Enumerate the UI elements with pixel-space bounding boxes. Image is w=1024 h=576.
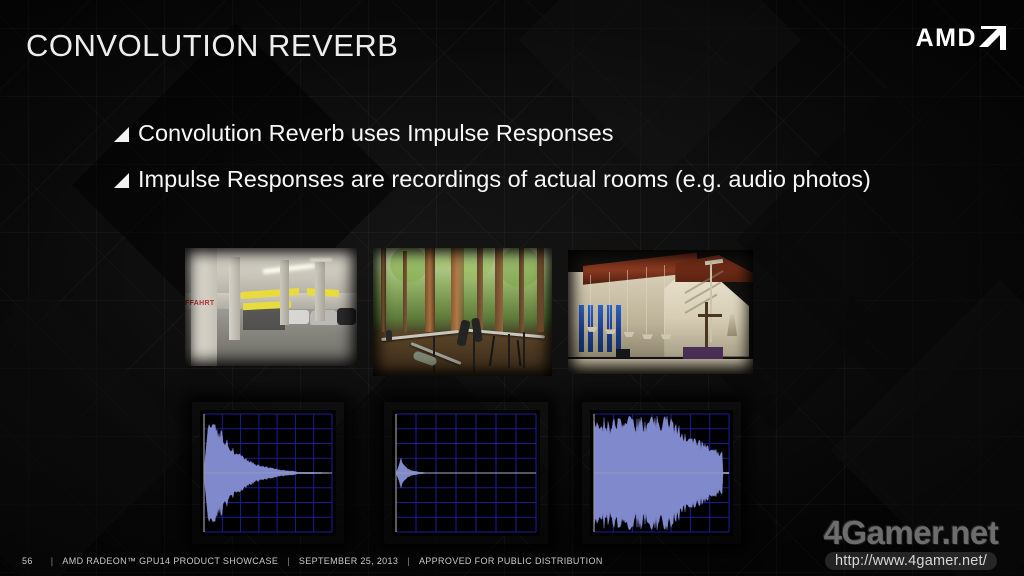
watermark: 4Gamer.net http://www.4gamer.net/: [806, 516, 1016, 570]
forest-photo: [373, 248, 552, 376]
watermark-brand: 4Gamer.net: [806, 516, 1016, 550]
list-item: Convolution Reverb uses Impulse Response…: [114, 120, 994, 147]
footer-deck-name: AMD RADEON™ GPU14 PRODUCT SHOWCASE: [62, 556, 278, 566]
impulse-response-forest-waveform: [392, 410, 540, 536]
triangle-bullet-icon: [114, 127, 129, 142]
watermark-url[interactable]: http://www.4gamer.net/: [825, 552, 997, 570]
amd-logo: AMD: [916, 26, 1006, 54]
footer-separator: |: [51, 556, 54, 566]
footer-date: SEPTEMBER 25, 2013: [299, 556, 398, 566]
page-number: 56: [22, 556, 33, 566]
footer-classification: APPROVED FOR PUBLIC DISTRIBUTION: [419, 556, 603, 566]
footer-separator: |: [287, 556, 290, 566]
slide-title: CONVOLUTION REVERB: [26, 28, 398, 64]
bullet-text: Impulse Responses are recordings of actu…: [138, 166, 871, 193]
footer-separator: |: [407, 556, 410, 566]
slide: CONVOLUTION REVERB AMD Convolution Rever…: [0, 0, 1024, 576]
church-photo: [568, 250, 753, 374]
impulse-response-garage-waveform: [200, 410, 336, 536]
bullet-list: Convolution Reverb uses Impulse Response…: [114, 120, 994, 212]
garage-sign-text: FFAHRT: [185, 300, 214, 307]
footer: 56 | AMD RADEON™ GPU14 PRODUCT SHOWCASE …: [22, 556, 603, 566]
bullet-text: Convolution Reverb uses Impulse Response…: [138, 120, 613, 147]
list-item: Impulse Responses are recordings of actu…: [114, 166, 994, 193]
triangle-bullet-icon: [114, 173, 129, 188]
amd-wordmark: AMD: [916, 26, 977, 50]
impulse-response-church-waveform: [590, 410, 733, 536]
amd-arrow-icon: [979, 26, 1006, 50]
parking-garage-photo: FFAHRT: [185, 248, 357, 366]
